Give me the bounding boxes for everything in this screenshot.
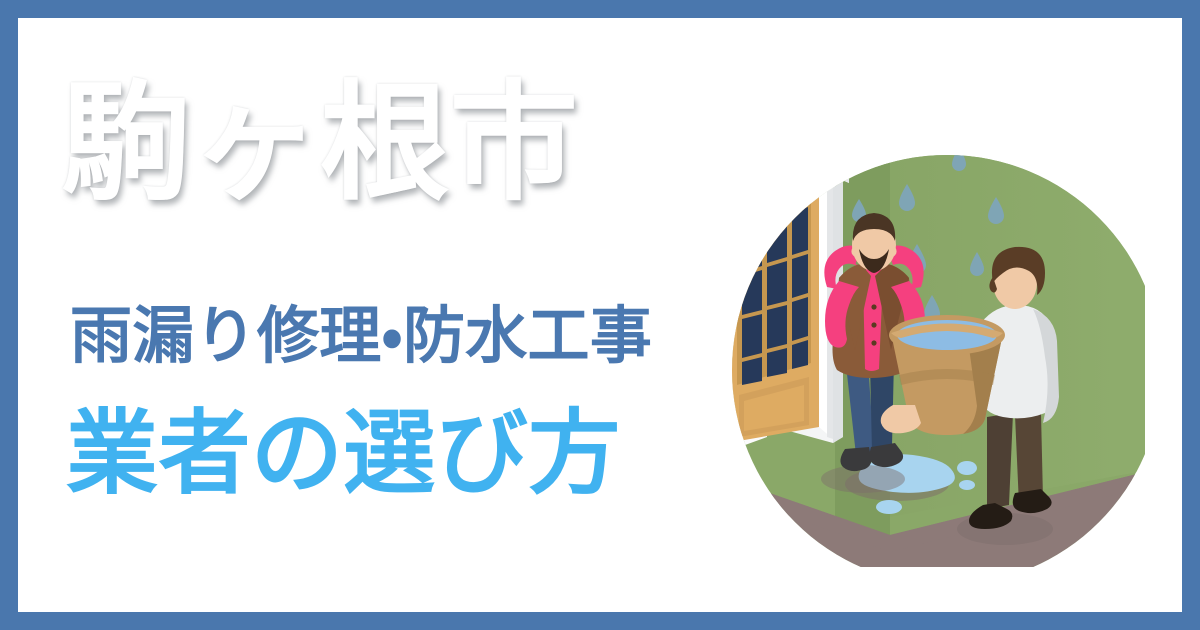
page-subtitle-topic: 業者の選び方 — [66, 408, 621, 500]
banner-canvas: 駒ヶ根市 雨漏り修理・防水工事 業者の選び方 — [18, 18, 1182, 612]
page-subtitle-service: 雨漏り修理・防水工事 — [70, 306, 652, 368]
headline-block: 駒ヶ根市 雨漏り修理・防水工事 業者の選び方 — [18, 18, 778, 612]
roof-leak-illustration — [715, 137, 1145, 567]
page-title-city: 駒ヶ根市 — [62, 80, 579, 208]
banner-root: 駒ヶ根市 雨漏り修理・防水工事 業者の選び方 — [0, 0, 1200, 630]
back-leg — [987, 413, 1013, 509]
